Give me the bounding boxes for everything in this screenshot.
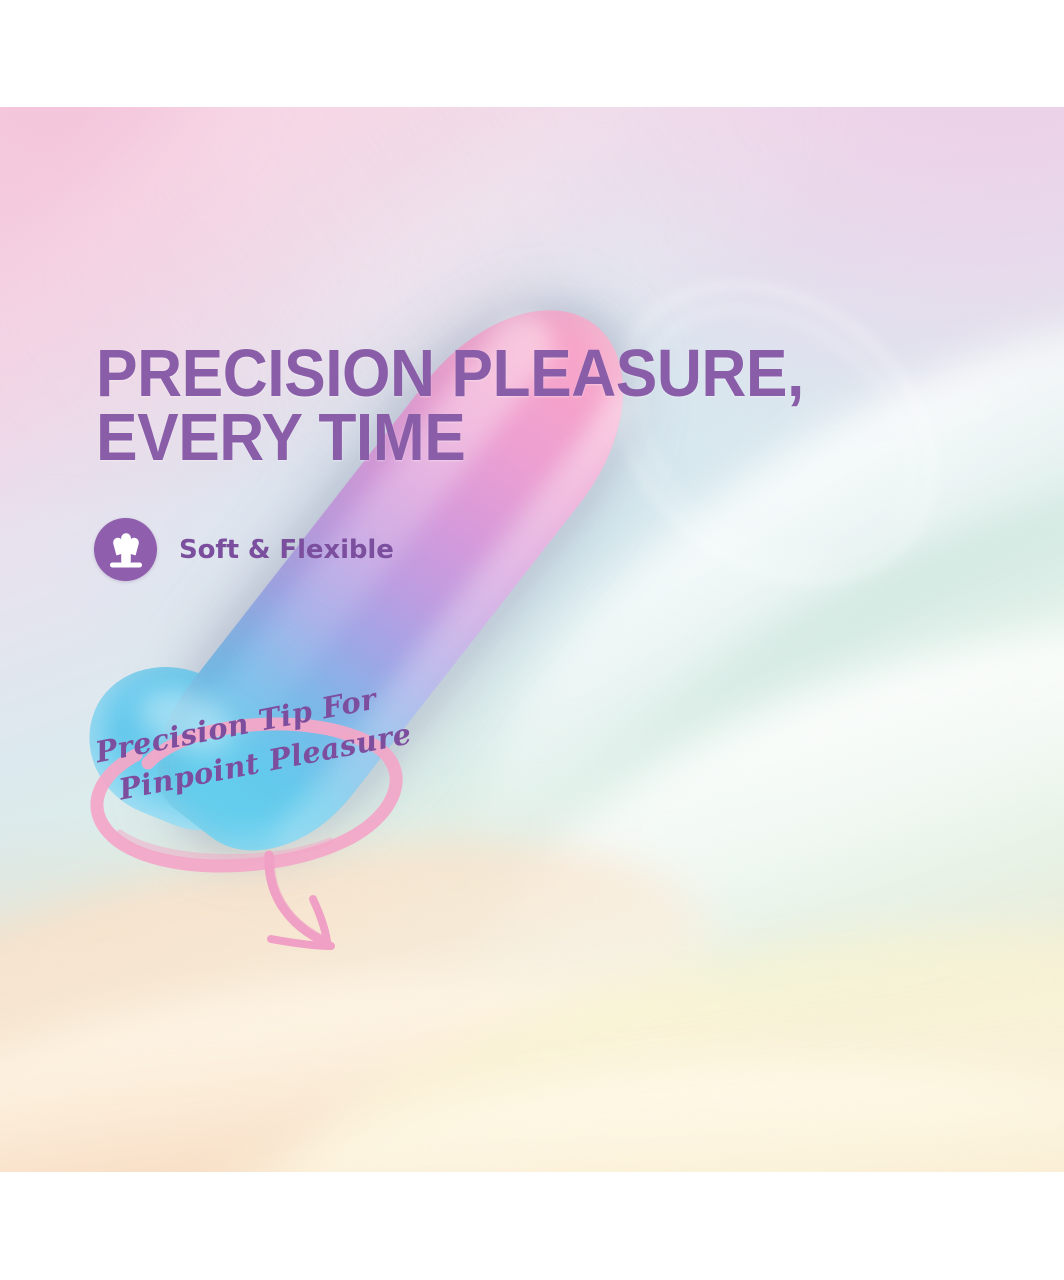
page-title: PRECISION PLEASURE, EVERY TIME [96,342,914,471]
headline-line-1: PRECISION PLEASURE, [96,342,914,406]
headline-line-2: EVERY TIME [96,406,914,470]
page-frame: PRECISION PLEASURE, EVERY TIME Soft & Fl… [0,0,1064,1280]
flex-prong-icon [94,518,157,581]
product-hero-banner: PRECISION PLEASURE, EVERY TIME Soft & Fl… [0,107,1064,1172]
curved-down-right-arrow-icon [253,847,383,967]
product-image [0,107,1064,1172]
feature-badge: Soft & Flexible [94,518,394,581]
callout-annotation: Precision Tip For Pinpoint Pleasure [78,699,418,889]
feature-label: Soft & Flexible [179,535,394,565]
